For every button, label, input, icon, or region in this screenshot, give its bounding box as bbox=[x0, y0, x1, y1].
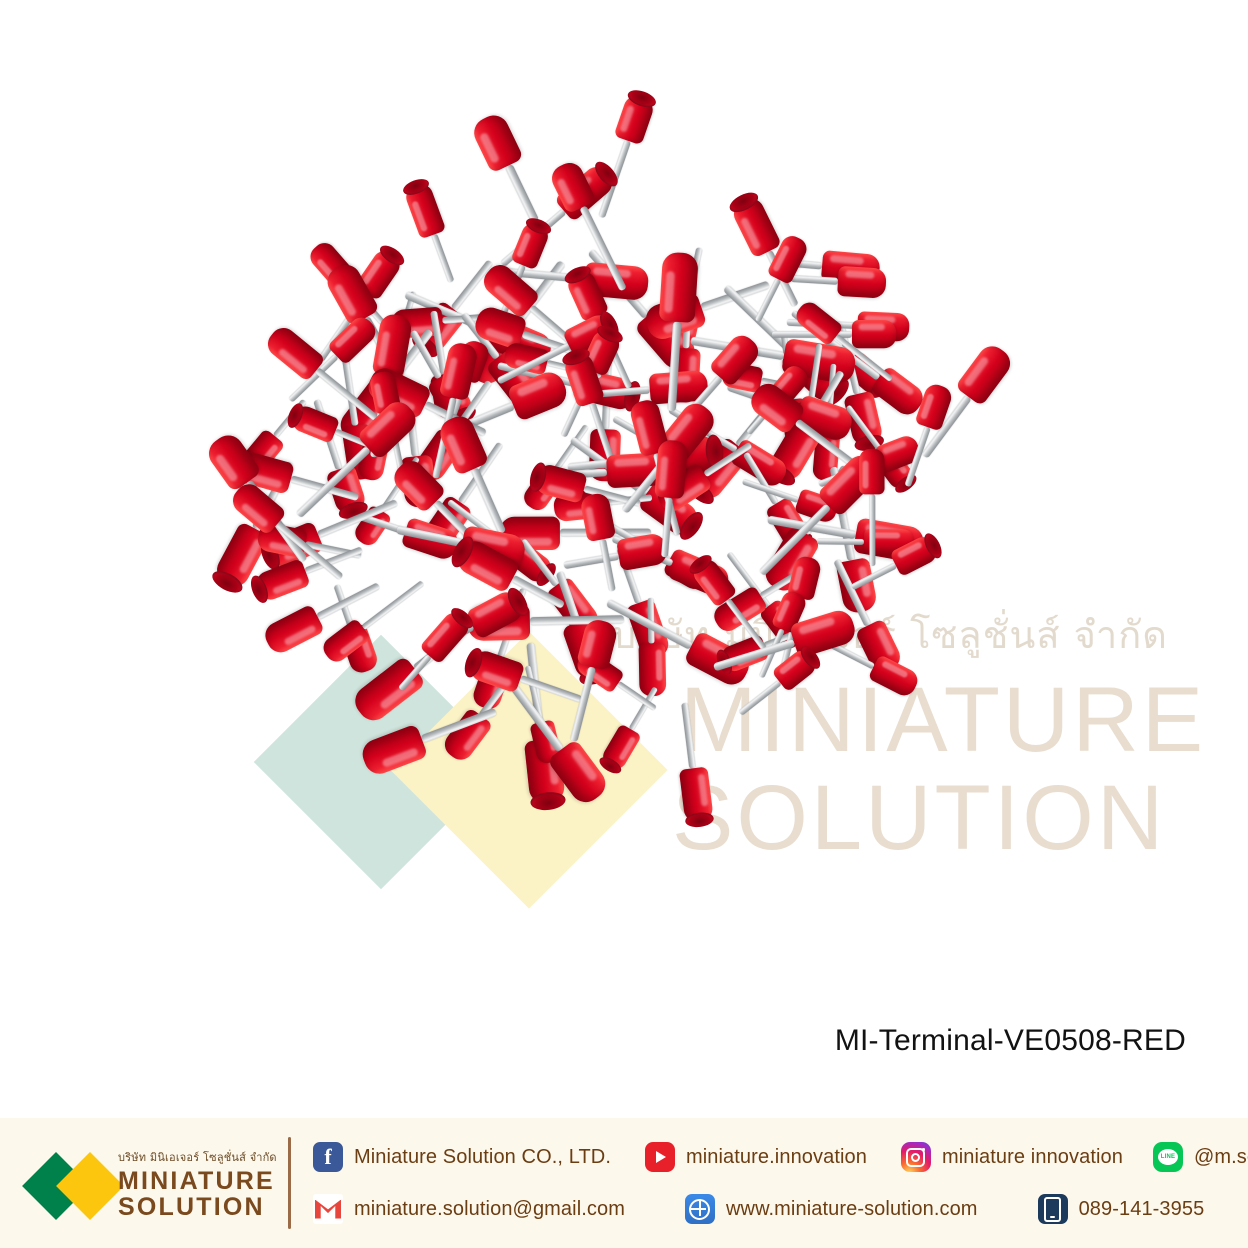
ferrule-collar bbox=[439, 341, 479, 401]
contact-facebook[interactable]: f Miniature Solution CO., LTD. bbox=[313, 1142, 611, 1172]
logo-word-solution: SOLUTION bbox=[118, 1194, 288, 1220]
instagram-label: miniature innovation bbox=[942, 1146, 1123, 1169]
logo-diamonds bbox=[32, 1156, 132, 1218]
youtube-label: miniature.innovation bbox=[686, 1146, 867, 1169]
footer-bar: บริษัท มินิเอเจอร์ โซลูชั่นส์ จำกัด MINI… bbox=[0, 1118, 1248, 1248]
logo-wordmark: บริษัท มินิเอเจอร์ โซลูชั่นส์ จำกัด MINI… bbox=[118, 1148, 288, 1220]
ferrule-collar bbox=[261, 604, 325, 657]
phone-label: 089-141-3955 bbox=[1079, 1198, 1205, 1221]
ferrule-collar bbox=[469, 110, 524, 173]
ferrule-collar bbox=[659, 252, 699, 324]
youtube-icon bbox=[645, 1142, 675, 1172]
mobile-phone-icon bbox=[1038, 1194, 1068, 1224]
contact-row-social: f Miniature Solution CO., LTD. miniature… bbox=[313, 1134, 1248, 1180]
ferrule-collar bbox=[852, 320, 896, 348]
contact-phone[interactable]: 089-141-3955 bbox=[1038, 1194, 1205, 1224]
ferrule-pin bbox=[869, 494, 875, 566]
instagram-icon bbox=[901, 1142, 931, 1172]
product-code-label: MI-Terminal-VE0508-RED bbox=[835, 1024, 1186, 1058]
website-label: www.miniature-solution.com bbox=[726, 1198, 978, 1221]
ferrule-pin bbox=[504, 163, 539, 223]
line-icon: LINE bbox=[1153, 1142, 1183, 1172]
contact-line[interactable]: LINE @m.solution bbox=[1153, 1142, 1248, 1172]
watermark-brand-line1: MINIATURE bbox=[680, 668, 1206, 773]
gmail-icon bbox=[313, 1194, 343, 1224]
ferrule-pin bbox=[563, 552, 619, 569]
ferrule-collar bbox=[859, 449, 884, 495]
watermark-brand-line2: SOLUTION bbox=[672, 766, 1166, 871]
facebook-label: Miniature Solution CO., LTD. bbox=[354, 1146, 611, 1169]
ferrule-pin bbox=[599, 539, 616, 592]
ferrule-collar bbox=[837, 265, 887, 298]
company-logo: บริษัท มินิเอเจอร์ โซลูชั่นส์ จำกัด MINI… bbox=[0, 1118, 288, 1248]
contact-row-details: miniature.solution@gmail.com www.miniatu… bbox=[313, 1186, 1248, 1232]
footer-divider bbox=[288, 1137, 291, 1229]
ferrule-pin bbox=[430, 234, 453, 284]
footer-contacts: f Miniature Solution CO., LTD. miniature… bbox=[313, 1129, 1248, 1237]
ferrule-collar bbox=[358, 724, 428, 779]
contact-youtube[interactable]: miniature.innovation bbox=[645, 1142, 867, 1172]
globe-icon bbox=[685, 1194, 715, 1224]
line-label: @m.solution bbox=[1194, 1146, 1248, 1169]
contact-website[interactable]: www.miniature-solution.com bbox=[685, 1194, 978, 1224]
logo-thai-text: บริษัท มินิเอเจอร์ โซลูชั่นส์ จำกัด bbox=[118, 1148, 288, 1166]
logo-word-miniature: MINIATURE bbox=[118, 1168, 288, 1194]
ferrule-pin bbox=[817, 538, 864, 544]
ferrule-collar bbox=[654, 440, 688, 499]
product-photo: บริษัท มินิเอเจอร์ โซลูชั่นส์ จำกัด MINI… bbox=[0, 0, 1248, 1118]
contact-email[interactable]: miniature.solution@gmail.com bbox=[313, 1194, 625, 1224]
facebook-icon: f bbox=[313, 1142, 343, 1172]
contact-instagram[interactable]: miniature innovation bbox=[901, 1142, 1123, 1172]
email-label: miniature.solution@gmail.com bbox=[354, 1198, 625, 1221]
